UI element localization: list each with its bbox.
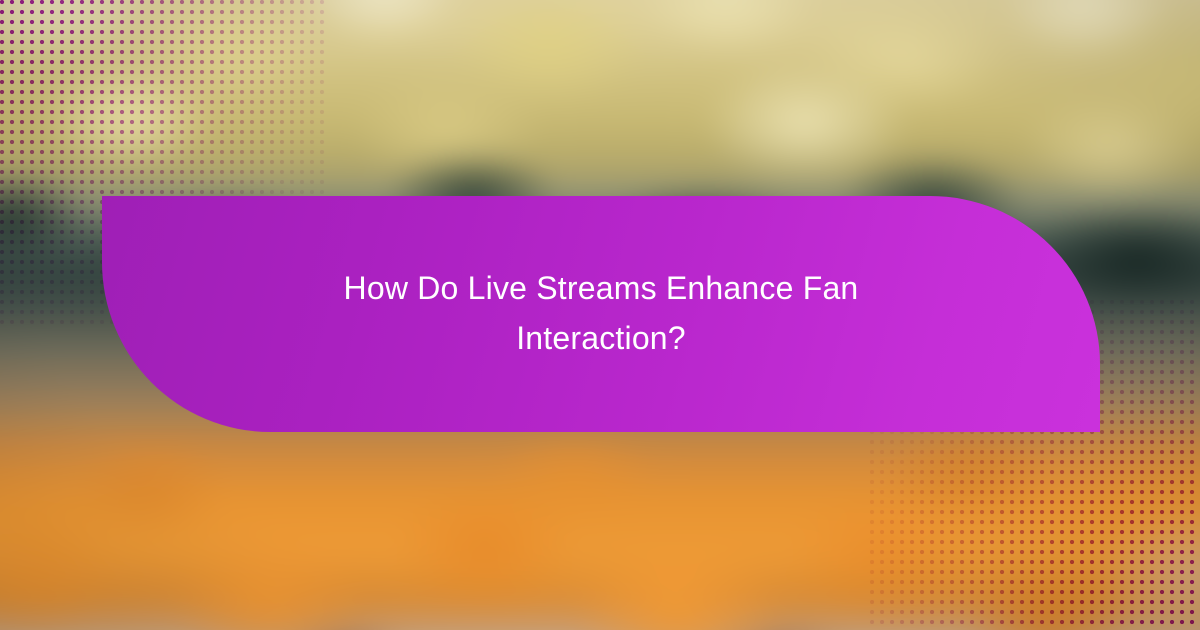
banner-canvas: How Do Live Streams Enhance Fan Interact… — [0, 0, 1200, 630]
page-title: How Do Live Streams Enhance Fan Interact… — [271, 263, 931, 365]
title-banner: How Do Live Streams Enhance Fan Interact… — [102, 196, 1100, 432]
